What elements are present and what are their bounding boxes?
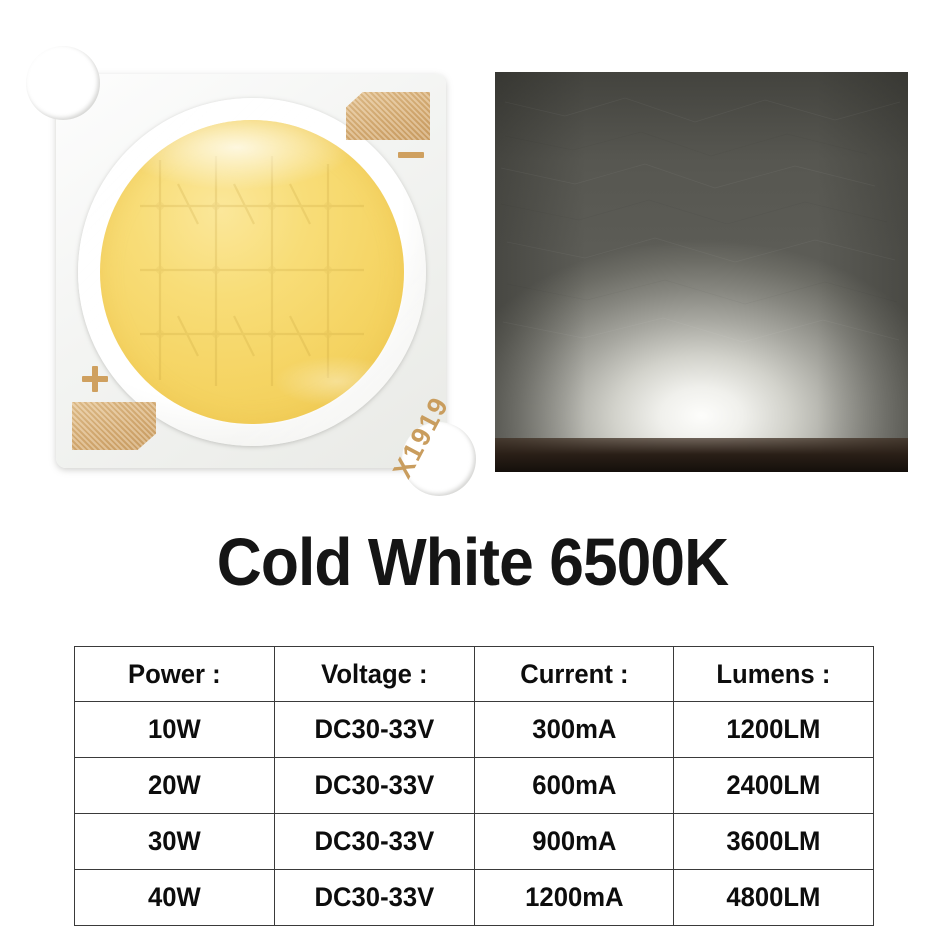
- cell-current-value: 300mA: [479, 714, 668, 745]
- cell-power: 10W: [75, 702, 275, 758]
- cell-voltage-value: DC30-33V: [280, 770, 469, 801]
- column-header-voltage-label: Voltage :: [280, 659, 469, 690]
- corner-notch-top-left-shading: [26, 46, 100, 120]
- cell-current-value: 1200mA: [479, 882, 668, 913]
- polarity-plus-icon: [82, 366, 108, 392]
- cell-lumens-value: 1200LM: [679, 714, 868, 745]
- solder-pad-negative: [346, 92, 430, 140]
- column-header-power: Power :: [75, 647, 275, 702]
- chip-ceramic-substrate: X1919: [56, 74, 446, 468]
- cell-voltage-value: DC30-33V: [280, 714, 469, 745]
- table-row: 30W DC30-33V 900mA 3600LM: [75, 814, 874, 870]
- phosphor-emitter-disc: [100, 120, 404, 424]
- beam-surface-texture: [495, 72, 908, 472]
- cell-current: 1200mA: [474, 870, 674, 926]
- page-title: Cold White 6500K: [33, 524, 912, 601]
- cell-current: 900mA: [474, 814, 674, 870]
- column-header-power-label: Power :: [80, 659, 269, 690]
- column-header-voltage: Voltage :: [274, 647, 474, 702]
- beam-floor-shadow: [495, 438, 908, 472]
- product-images-row: X1919: [0, 0, 945, 505]
- cell-voltage-value: DC30-33V: [280, 882, 469, 913]
- cell-current-value: 900mA: [479, 826, 668, 857]
- cell-lumens: 1200LM: [674, 702, 874, 758]
- cell-power-value: 30W: [80, 826, 269, 857]
- cell-current: 300mA: [474, 702, 674, 758]
- cell-power: 40W: [75, 870, 275, 926]
- polarity-minus-icon: [398, 152, 424, 158]
- cell-voltage: DC30-33V: [274, 702, 474, 758]
- cell-lumens: 3600LM: [674, 814, 874, 870]
- solder-pad-positive: [72, 402, 156, 450]
- light-beam-photo: [495, 72, 908, 472]
- phosphor-gloss-highlight: [100, 120, 404, 424]
- cell-lumens-value: 4800LM: [679, 882, 868, 913]
- table-row: 40W DC30-33V 1200mA 4800LM: [75, 870, 874, 926]
- table-header-row: Power : Voltage : Current : Lumens :: [75, 647, 874, 702]
- table-row: 10W DC30-33V 300mA 1200LM: [75, 702, 874, 758]
- cell-power: 30W: [75, 814, 275, 870]
- cell-lumens-value: 3600LM: [679, 826, 868, 857]
- specification-table: Power : Voltage : Current : Lumens : 10W…: [74, 646, 874, 926]
- cell-voltage: DC30-33V: [274, 758, 474, 814]
- table-row: 20W DC30-33V 600mA 2400LM: [75, 758, 874, 814]
- cell-voltage-value: DC30-33V: [280, 826, 469, 857]
- column-header-current-label: Current :: [479, 659, 668, 690]
- column-header-current: Current :: [474, 647, 674, 702]
- led-cob-chip-photo: X1919: [48, 66, 458, 476]
- cell-power-value: 20W: [80, 770, 269, 801]
- cell-power-value: 10W: [80, 714, 269, 745]
- cell-voltage: DC30-33V: [274, 814, 474, 870]
- cell-power-value: 40W: [80, 882, 269, 913]
- cell-current-value: 600mA: [479, 770, 668, 801]
- cell-voltage: DC30-33V: [274, 870, 474, 926]
- cell-power: 20W: [75, 758, 275, 814]
- cell-current: 600mA: [474, 758, 674, 814]
- column-header-lumens: Lumens :: [674, 647, 874, 702]
- cell-lumens: 2400LM: [674, 758, 874, 814]
- cell-lumens: 4800LM: [674, 870, 874, 926]
- cell-lumens-value: 2400LM: [679, 770, 868, 801]
- column-header-lumens-label: Lumens :: [679, 659, 868, 690]
